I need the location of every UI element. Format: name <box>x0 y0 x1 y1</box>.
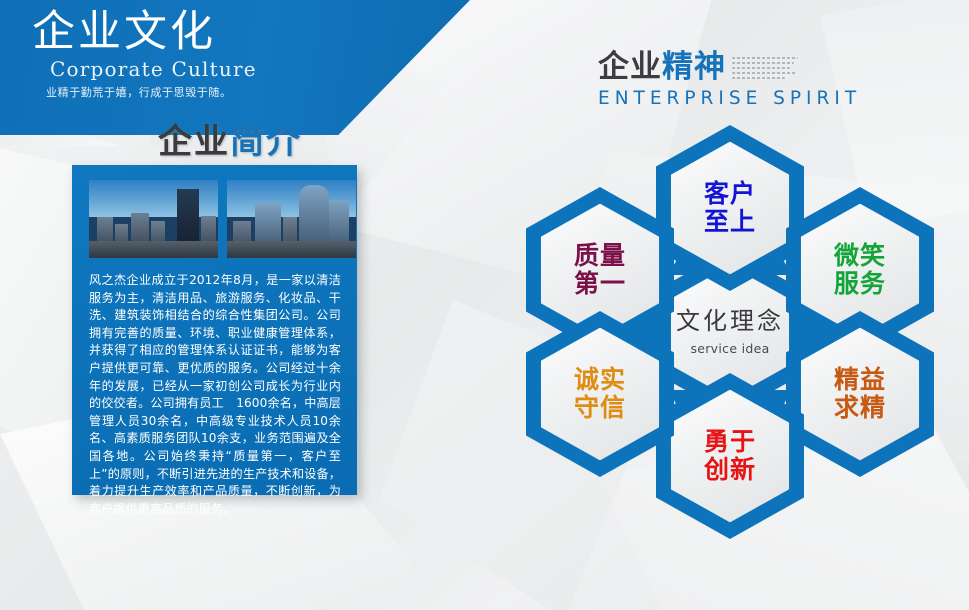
hex-center-label-en: service idea <box>656 342 804 356</box>
banner-title-cn: 企业文化 <box>32 10 332 55</box>
hex-label-line1: 诚实 <box>574 365 626 394</box>
hex-label-line2: 至上 <box>656 208 804 236</box>
spirit-header: 企业精神 ENTERPRISE SPIRIT <box>598 52 861 109</box>
hex-center-label-cn: 文化理念 <box>676 307 784 335</box>
banner-title-en: Corporate Culture <box>32 57 332 81</box>
hex-label-line2: 创新 <box>656 456 804 484</box>
hex-label: 客户 至上 <box>656 180 804 236</box>
intro-title-dark: 企业 <box>158 122 230 162</box>
spirit-title-dark: 企业 <box>598 49 662 85</box>
intro-section-title: 企业简介 <box>158 114 302 163</box>
hex-label-line1: 质量 <box>574 241 626 270</box>
ground-region <box>89 241 218 258</box>
decorative-text-lines <box>732 57 798 80</box>
spirit-title-blue: 精神 <box>662 49 726 85</box>
hex-cell-customer-first[interactable]: 客户 至上 <box>656 125 804 291</box>
banner-text-group: 企业文化 Corporate Culture 业精于勤荒于嬉，行成于思毁于随。 <box>32 10 332 100</box>
hex-label-line2: 第一 <box>526 270 674 298</box>
building <box>299 185 329 249</box>
banner-subtitle: 业精于勤荒于嬉，行成于思毁于随。 <box>32 84 332 100</box>
hex-label: 质量 第一 <box>526 242 674 298</box>
hex-label-line2: 求精 <box>786 394 934 422</box>
hex-label: 勇于 创新 <box>656 428 804 484</box>
hex-label-line1: 微笑 <box>834 241 886 270</box>
company-intro-card: 风之杰企业成立于2012年8月，是一家以清洁服务为主，清洁用品、旅游服务、化妆品… <box>72 165 357 495</box>
hex-center-label: 文化理念 service idea <box>656 308 804 356</box>
intro-title-blue: 简介 <box>230 122 302 162</box>
building <box>177 189 199 247</box>
skyscraper-photo <box>227 180 356 258</box>
company-intro-text: 风之杰企业成立于2012年8月，是一家以清洁服务为主，清洁用品、旅游服务、化妆品… <box>89 272 341 518</box>
hex-label-line1: 勇于 <box>704 427 756 456</box>
hex-label-line2: 服务 <box>786 270 934 298</box>
culture-honeycomb: 文化理念 service idea 客户 至上 质量 第一 <box>490 110 969 610</box>
hex-label: 精益 求精 <box>786 366 934 422</box>
hex-label: 诚实 守信 <box>526 366 674 422</box>
spirit-title-en: ENTERPRISE SPIRIT <box>598 88 861 109</box>
hex-cell-excellence[interactable]: 精益 求精 <box>786 311 934 477</box>
poster-canvas: 企业文化 Corporate Culture 业精于勤荒于嬉，行成于思毁于随。 … <box>0 0 969 610</box>
hex-label-line2: 守信 <box>526 394 674 422</box>
hex-label-line1: 客户 <box>704 179 756 208</box>
hex-cell-integrity[interactable]: 诚实 守信 <box>526 311 674 477</box>
city-skyline-photo <box>89 180 218 258</box>
hex-cell-innovation[interactable]: 勇于 创新 <box>656 373 804 539</box>
photo-row <box>89 180 356 258</box>
ground-region <box>227 241 356 258</box>
spirit-title-cn: 企业精神 <box>598 52 726 83</box>
hex-label-line1: 精益 <box>834 365 886 394</box>
hex-label: 微笑 服务 <box>786 242 934 298</box>
